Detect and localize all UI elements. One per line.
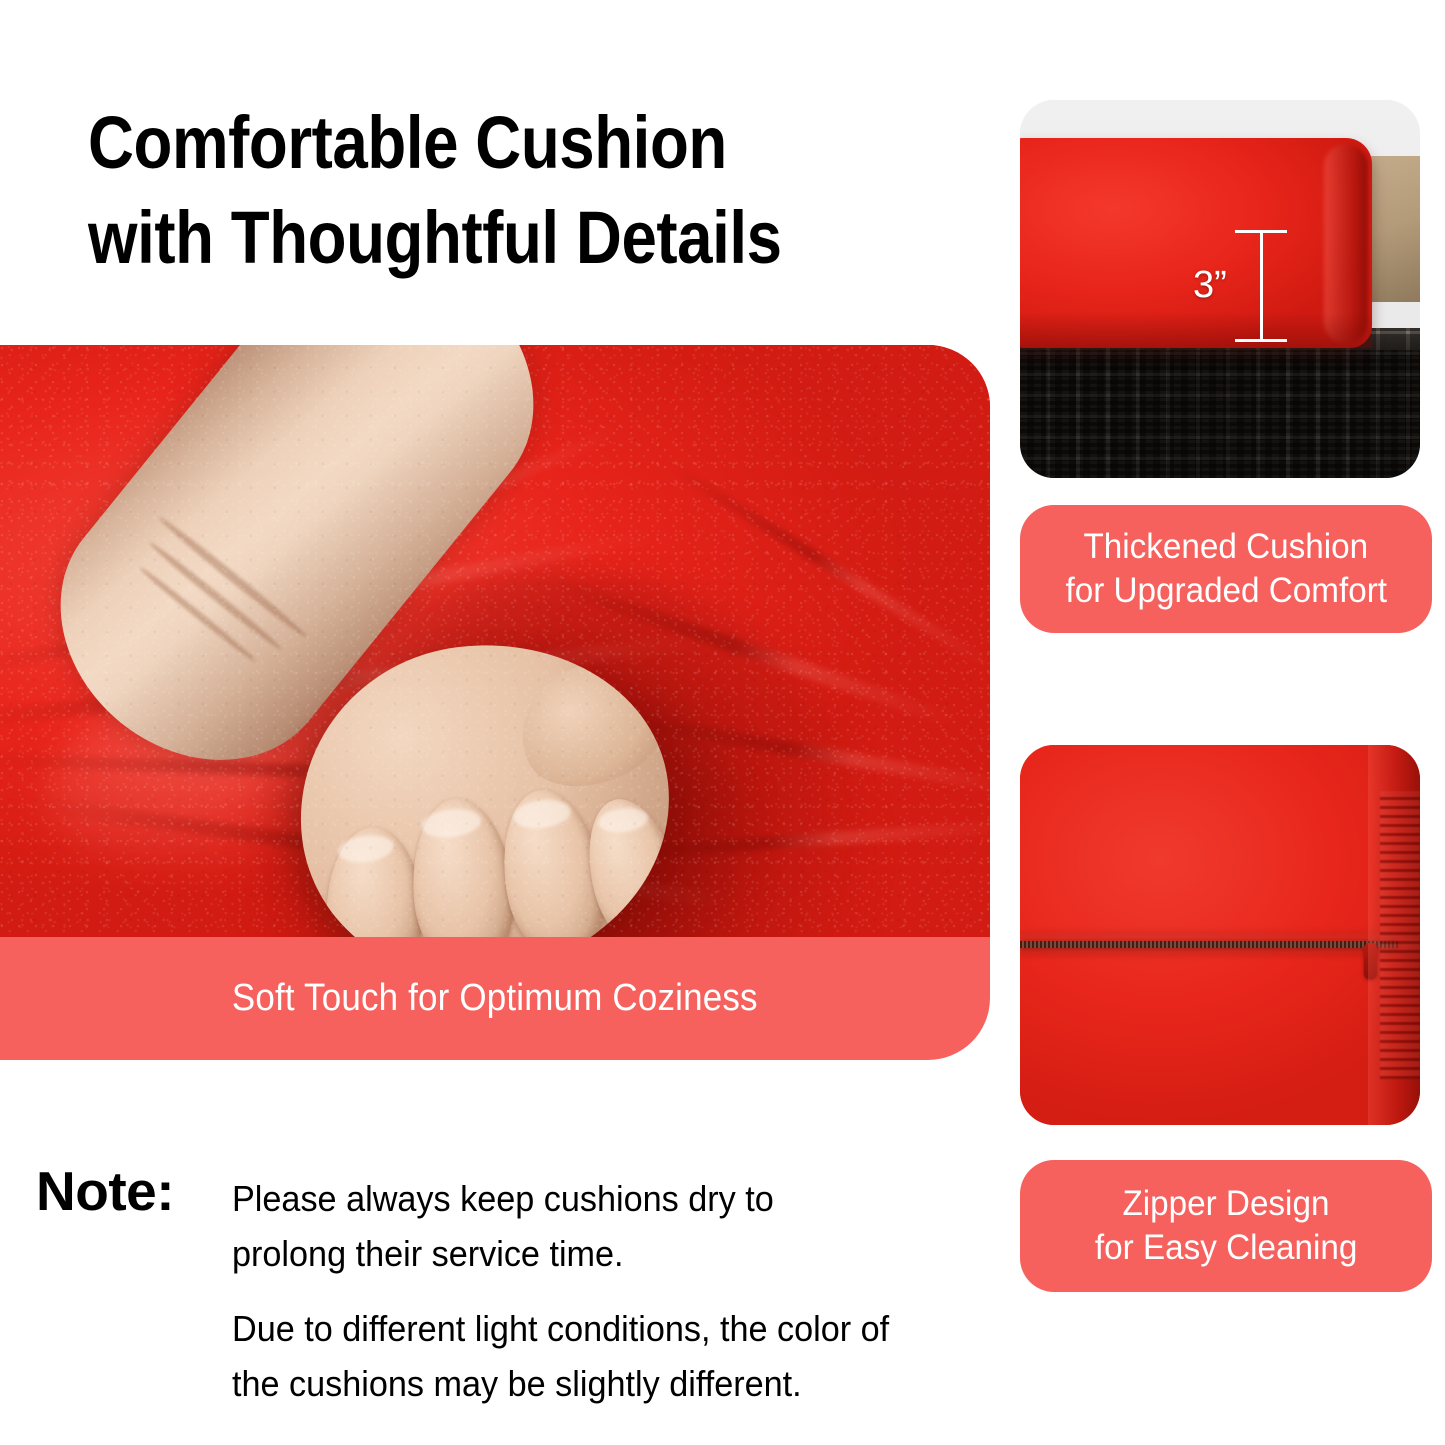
thickness-dimension-marker: 3” [1235,230,1287,342]
zipper-teeth [1020,941,1398,948]
dimension-line [1260,230,1263,342]
thickened-cushion-caption-pill: Thickened Cushion for Upgraded Comfort [1020,505,1432,633]
cushion-side-ridges [1380,791,1420,1080]
red-cushion [1020,138,1372,348]
zipper-design-caption-pill: Zipper Design for Easy Cleaning [1020,1160,1432,1292]
main-feature-caption-label: Soft Touch for Optimum Coziness [232,977,758,1020]
dimension-label: 3” [1193,266,1227,304]
main-feature-card: Soft Touch for Optimum Coziness [0,345,990,1060]
cushion-thickness-closeup-photo: 3” [1020,100,1420,478]
page-title: Comfortable Cushion with Thoughtful Deta… [88,96,862,285]
thickened-cushion-caption-line2: for Upgraded Comfort [1065,569,1387,613]
zipper-design-caption-line1: Zipper Design [1122,1182,1329,1226]
thickened-cushion-caption-line1: Thickened Cushion [1084,525,1369,569]
fist-pressing-cushion-photo [0,345,990,937]
dimension-cap-bottom [1235,339,1287,342]
cushion-bottom-shadow [1020,312,1372,348]
note-paragraph-1: Please always keep cushions dry to prolo… [232,1172,897,1281]
wicker-base [1020,328,1420,478]
fabric-texture-overlay [0,345,990,937]
zipper-design-caption-line2: for Easy Cleaning [1095,1226,1357,1270]
note-label: Note: [36,1164,174,1219]
note-paragraph-2: Due to different light conditions, the c… [232,1302,926,1411]
main-feature-caption: Soft Touch for Optimum Coziness [0,937,990,1060]
cushion-zipper-closeup-photo [1020,745,1420,1125]
